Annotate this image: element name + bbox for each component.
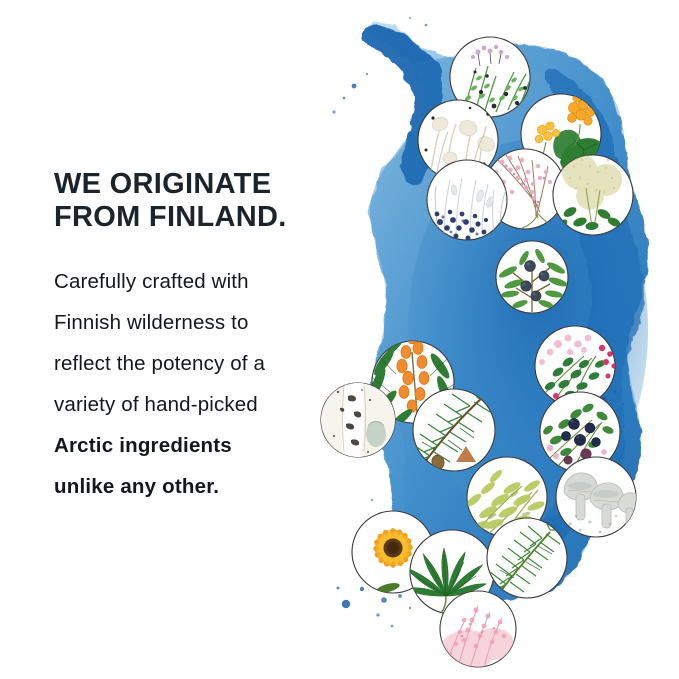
body-line: Finnish wilderness to [54,302,354,343]
circle-meadowsweet [553,154,633,235]
circle-pink-heather [440,591,516,670]
circle-spruce-sprig [487,518,567,598]
body-copy: Carefully crafted with Finnish wildernes… [54,234,354,507]
page-title: WE ORIGINATE FROM FINLAND. [54,168,354,234]
body-line: reflect the potency of a [54,343,354,384]
body-line-emphasis: Arctic ingredients [54,425,354,466]
circle-juniper-berries [496,241,569,313]
body-line: variety of hand-picked [54,384,354,425]
body-line-emphasis: unlike any other. [54,466,354,507]
watercolor-map-illustration [318,0,679,679]
circle-blueberry-sprig [427,160,507,241]
body-line: Carefully crafted with [54,261,354,302]
poster-canvas: WE ORIGINATE FROM FINLAND. Carefully cra… [0,0,679,679]
text-block: WE ORIGINATE FROM FINLAND. Carefully cra… [54,168,354,507]
